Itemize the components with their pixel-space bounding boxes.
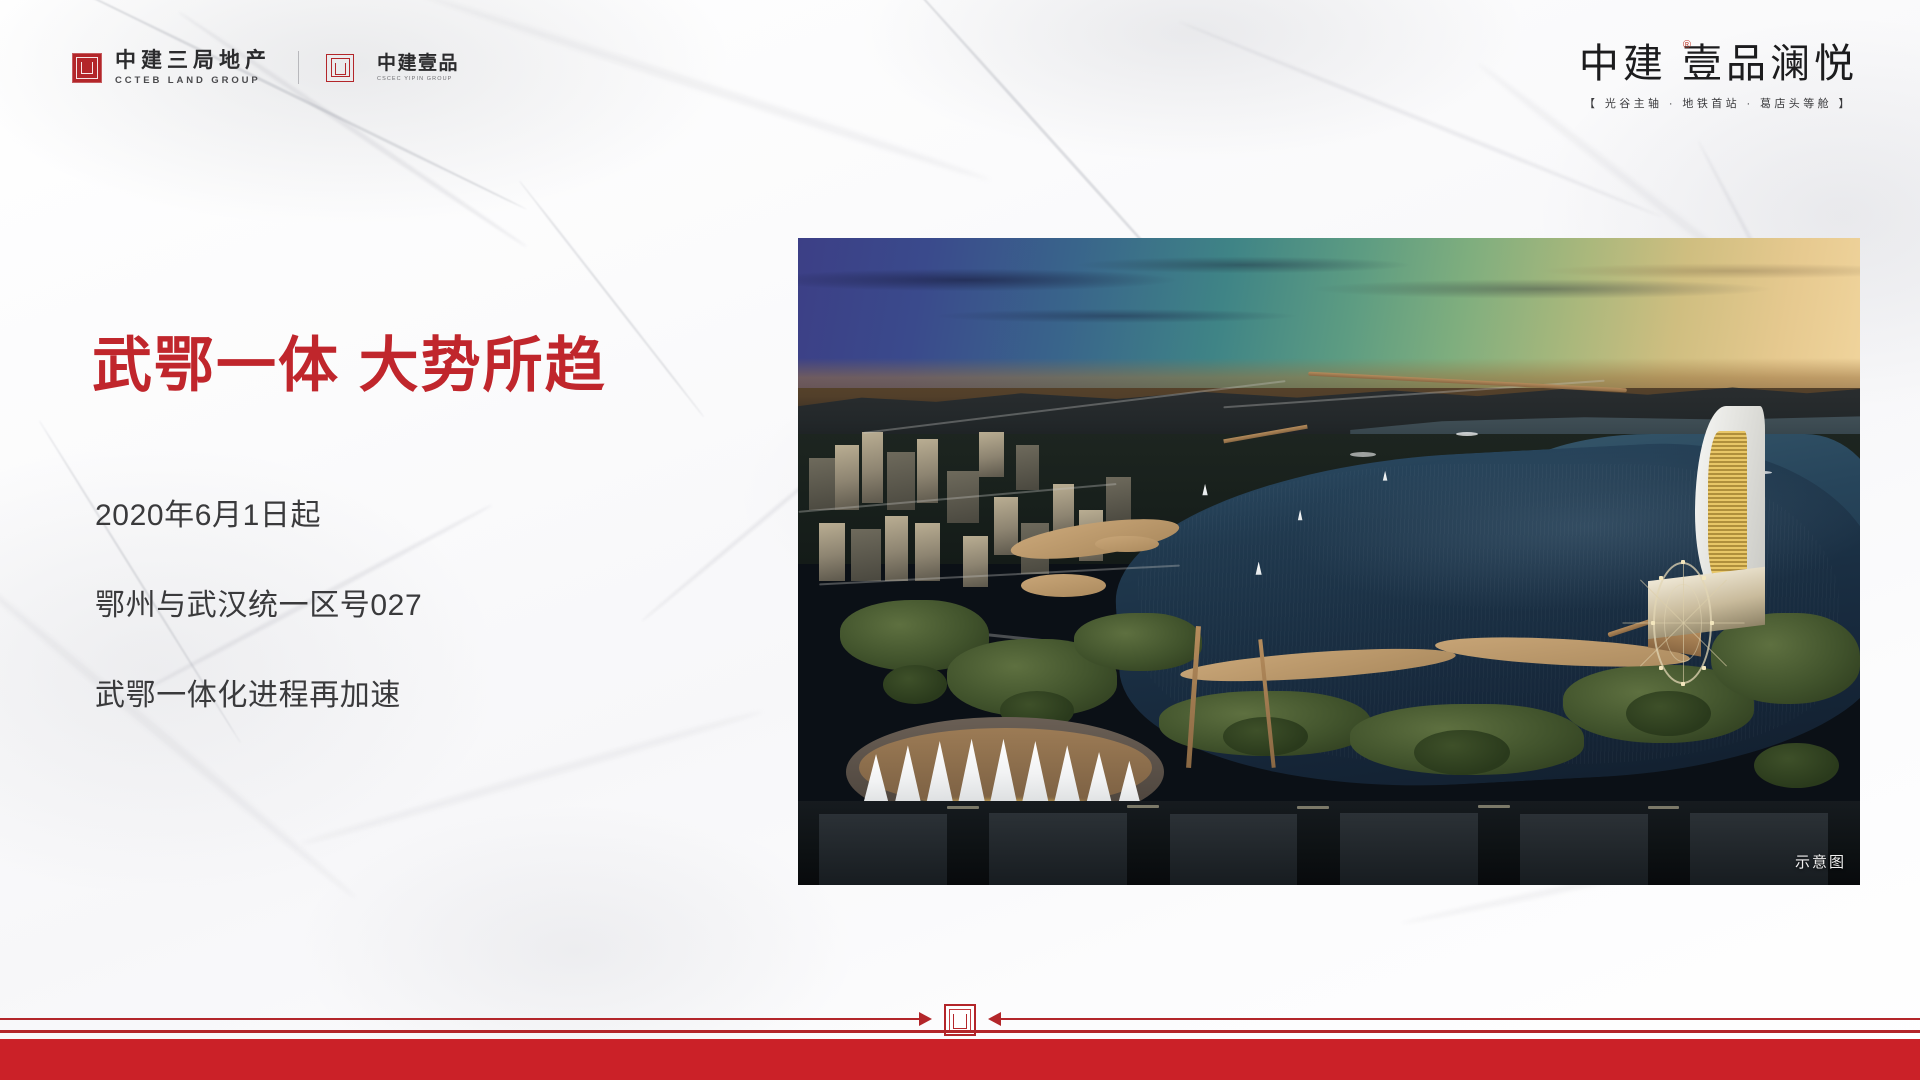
accent-rule xyxy=(0,1030,1920,1033)
subbrand-name-en: CSCEC YIPIN GROUP xyxy=(377,77,459,83)
body-line: 鄂州与武汉统一区号027 xyxy=(95,580,422,624)
tree-cluster xyxy=(1223,717,1308,756)
city-block xyxy=(835,445,858,510)
viaduct-light xyxy=(1127,805,1159,808)
city-block xyxy=(979,432,1004,477)
viaduct-pier xyxy=(1170,814,1297,885)
company-name-en: CCTEB LAND GROUP xyxy=(115,76,271,86)
body-text-block: 2020年6月1日起 鄂州与武汉统一区号027 武鄂一体化进程再加速 xyxy=(95,490,422,714)
square-seal-icon xyxy=(72,53,102,83)
marble-vein xyxy=(177,10,528,249)
wheel-cabin xyxy=(1659,666,1663,670)
divider-line-left xyxy=(0,1018,922,1020)
slide-canvas: 中建三局地产 CCTEB LAND GROUP 中建壹品 CSCEC YIPIN… xyxy=(0,0,1920,1080)
registered-trademark-icon: ® xyxy=(1683,40,1691,51)
logo-divider xyxy=(298,51,299,84)
city-block xyxy=(1016,445,1039,490)
city-block xyxy=(917,439,938,504)
viaduct-light xyxy=(1478,805,1510,808)
city-block xyxy=(851,529,881,581)
marble-vein xyxy=(300,708,764,848)
boat-wake xyxy=(1350,452,1376,457)
project-tagline: 【 光谷主轴 · 地铁首站 · 葛店头等舱 】 xyxy=(1579,95,1858,111)
tree-cluster xyxy=(1754,743,1839,788)
ferris-wheel xyxy=(1653,562,1712,685)
wheel-cabin xyxy=(1710,621,1714,625)
page-title: 武鄂一体 大势所趋 xyxy=(92,332,607,399)
wheel-spoke xyxy=(1683,623,1684,684)
viaduct-light xyxy=(1297,806,1329,809)
tree-cluster xyxy=(883,665,947,704)
wheel-cabin xyxy=(1659,576,1663,580)
viaduct-pier xyxy=(1690,813,1828,885)
foreground-viaduct xyxy=(798,801,1860,885)
rendering-photo: 示意图 xyxy=(798,238,1860,885)
park-green xyxy=(1074,613,1201,671)
project-name-text: 中建 壹品澜悦 xyxy=(1579,42,1858,86)
arrow-right-icon xyxy=(919,1012,932,1026)
wheel-spoke xyxy=(1683,562,1684,623)
city-block xyxy=(862,432,883,503)
body-line: 2020年6月1日起 xyxy=(95,490,422,534)
company-logo-left: 中建三局地产 CCTEB LAND GROUP 中建壹品 CSCEC YIPIN… xyxy=(72,50,459,86)
project-name: 中建 壹品澜悦 ® xyxy=(1579,44,1858,84)
marble-vein xyxy=(417,0,990,184)
viaduct-light xyxy=(1648,806,1680,809)
viaduct-pier xyxy=(989,813,1127,885)
city-block xyxy=(885,516,908,581)
viaduct-pier xyxy=(819,814,946,885)
wheel-cabin xyxy=(1702,666,1706,670)
sand-islet xyxy=(1021,574,1106,597)
city-block xyxy=(915,523,940,581)
body-line: 武鄂一体化进程再加速 xyxy=(95,670,422,714)
tower-facade xyxy=(1708,431,1747,582)
wheel-cabin xyxy=(1702,576,1706,580)
subbrand-name-cn: 中建壹品 xyxy=(377,54,459,73)
wheel-cabin xyxy=(1681,560,1685,564)
project-logo-right: 中建 壹品澜悦 ® 【 光谷主轴 · 地铁首站 · 葛店头等舱 】 xyxy=(1579,44,1858,111)
outline-seal-icon xyxy=(326,54,354,82)
wheel-cabin xyxy=(1651,621,1655,625)
footer-bar xyxy=(0,1039,1920,1080)
viaduct-pier xyxy=(1520,814,1647,885)
city-block xyxy=(963,536,988,588)
divider-line-right xyxy=(998,1018,1920,1020)
photo-caption: 示意图 xyxy=(1795,851,1846,872)
city-block xyxy=(819,523,844,581)
marble-vein xyxy=(59,0,528,211)
viaduct-light xyxy=(947,806,979,809)
viaduct-pier xyxy=(1340,813,1478,885)
tree-cluster xyxy=(1626,691,1711,736)
tree-cluster xyxy=(1414,730,1510,775)
company-name-cn: 中建三局地产 xyxy=(115,50,271,71)
